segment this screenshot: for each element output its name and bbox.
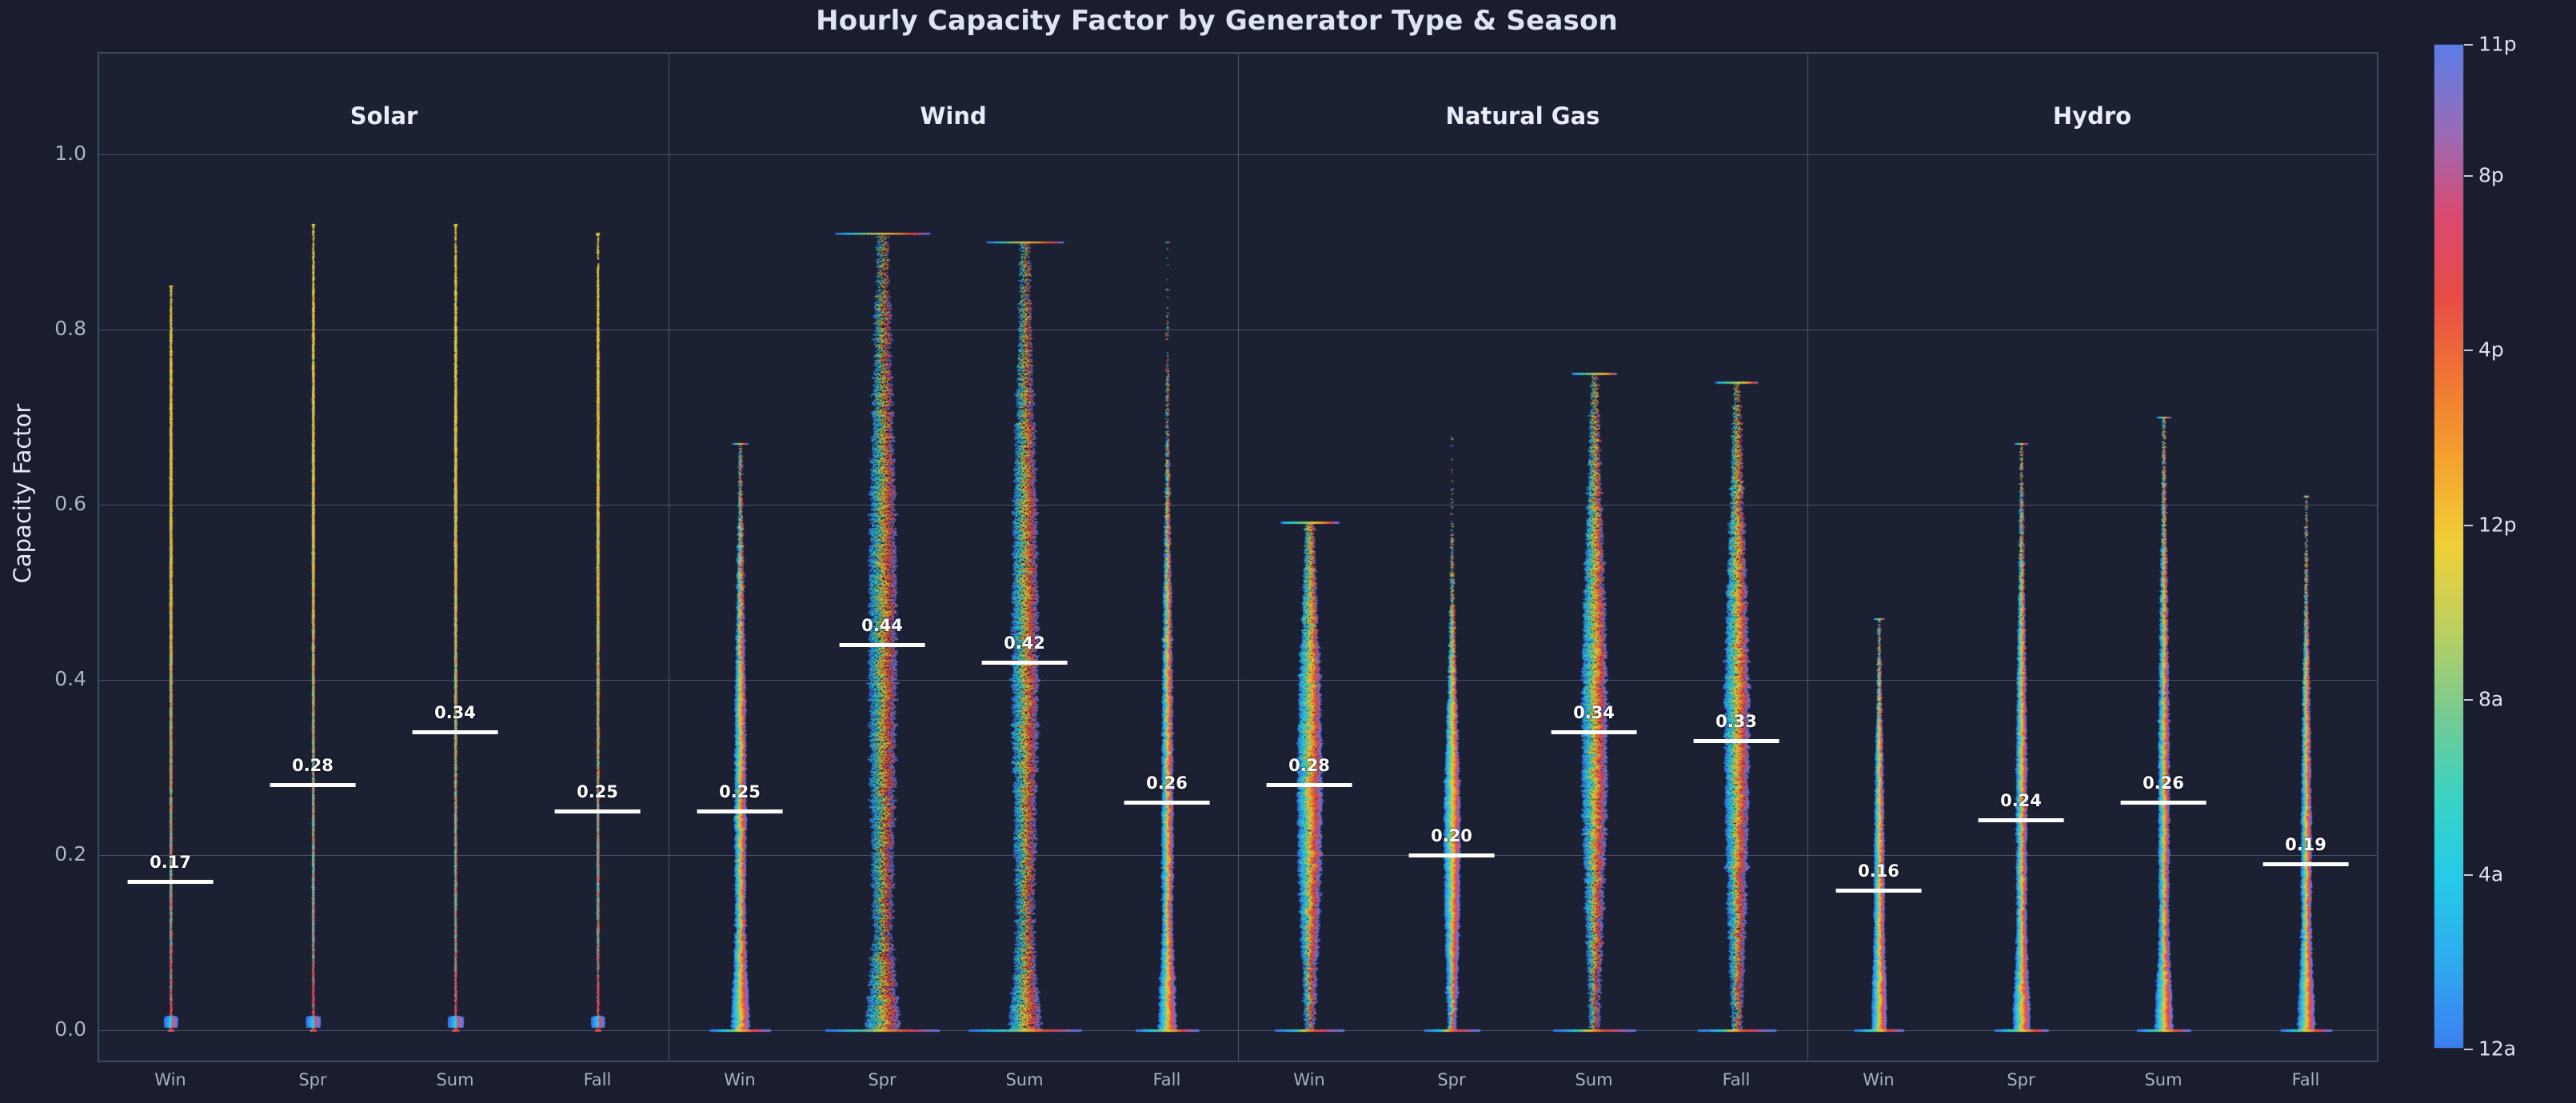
median-value-label: 0.25 <box>719 782 761 801</box>
median-line <box>128 880 214 884</box>
chart-root: Hourly Capacity Factor by Generator Type… <box>0 0 2576 1103</box>
colorbar-tick-11p <box>2464 44 2473 46</box>
median-value-label: 0.28 <box>292 756 333 775</box>
median-line <box>1552 730 1637 734</box>
median-line <box>413 730 498 734</box>
median-line <box>2263 862 2349 866</box>
median-line <box>1267 783 1352 787</box>
panel-title-wind: Wind <box>920 102 986 130</box>
x-tick-label-hydro-fall: Fall <box>2292 1070 2320 1089</box>
x-tick-label-solar-spr: Spr <box>298 1070 326 1089</box>
colorbar-label-11p: 11p <box>2478 33 2517 56</box>
colorbar-tick-8a <box>2464 699 2473 701</box>
x-tick-label-natural-gas-win: Win <box>1293 1070 1324 1089</box>
panel-title-natural-gas: Natural Gas <box>1446 102 1600 130</box>
x-tick-label-solar-win: Win <box>154 1070 186 1089</box>
x-tick-label-natural-gas-sum: Sum <box>1575 1070 1612 1089</box>
median-value-label: 0.34 <box>1573 703 1615 722</box>
y-tick-label-1.0: 1.0 <box>0 142 86 165</box>
x-tick-label-hydro-spr: Spr <box>2007 1070 2035 1089</box>
median-value-label: 0.28 <box>1288 756 1330 775</box>
median-line <box>697 809 783 813</box>
median-line <box>270 783 356 787</box>
median-value-label: 0.26 <box>1146 773 1188 793</box>
median-value-label: 0.16 <box>1858 861 1899 881</box>
colorbar[interactable]: 12a4a8a12p4p8p11p <box>2434 44 2464 1049</box>
x-tick-label-wind-spr: Spr <box>868 1070 896 1089</box>
colorbar-label-8a: 8a <box>2478 688 2503 711</box>
colorbar-tick-12a <box>2464 1049 2473 1050</box>
panel-title-solar: Solar <box>350 102 418 130</box>
median-value-label: 0.33 <box>1715 712 1757 731</box>
median-line <box>840 643 925 647</box>
colorbar-label-8p: 8p <box>2478 163 2504 186</box>
median-value-label: 0.44 <box>861 616 903 635</box>
colorbar-gradient <box>2434 44 2464 1049</box>
x-tick-label-hydro-win: Win <box>1863 1070 1894 1089</box>
x-tick-label-solar-sum: Sum <box>436 1070 473 1089</box>
median-line <box>1979 818 2064 822</box>
x-tick-label-wind-sum: Sum <box>1005 1070 1043 1089</box>
y-tick-label-0.0: 0.0 <box>0 1017 86 1041</box>
colorbar-tick-8p <box>2464 175 2473 177</box>
colorbar-tick-12p <box>2464 525 2473 526</box>
colorbar-label-4p: 4p <box>2478 338 2504 362</box>
x-tick-label-hydro-sum: Sum <box>2144 1070 2182 1089</box>
median-line <box>2121 801 2207 805</box>
colorbar-tick-4p <box>2464 350 2473 351</box>
colorbar-label-4a: 4a <box>2478 862 2503 885</box>
median-value-label: 0.20 <box>1431 826 1472 845</box>
y-axis-label: Capacity Factor <box>9 294 36 693</box>
median-line <box>1694 739 1779 743</box>
median-value-label: 0.34 <box>434 703 476 722</box>
panel-title-hydro: Hydro <box>2053 102 2131 130</box>
median-value-label: 0.19 <box>2285 835 2326 854</box>
median-line <box>1836 889 1922 893</box>
median-line <box>982 661 1068 665</box>
colorbar-tick-4a <box>2464 874 2473 876</box>
median-line <box>1409 853 1495 857</box>
median-line <box>1124 801 1210 805</box>
x-tick-label-wind-win: Win <box>724 1070 755 1089</box>
page-title: Hourly Capacity Factor by Generator Type… <box>0 5 2434 37</box>
x-tick-label-natural-gas-fall: Fall <box>1723 1070 1751 1089</box>
plot-area: 0.170.280.340.250.250.440.420.260.280.20… <box>98 52 2378 1062</box>
y-tick-label-0.2: 0.2 <box>0 842 86 865</box>
median-value-label: 0.25 <box>577 782 618 801</box>
median-line <box>555 809 641 813</box>
median-value-label: 0.26 <box>2143 773 2184 793</box>
x-tick-label-natural-gas-spr: Spr <box>1437 1070 1465 1089</box>
x-tick-label-wind-fall: Fall <box>1153 1070 1181 1089</box>
x-tick-label-solar-fall: Fall <box>584 1070 612 1089</box>
median-value-label: 0.42 <box>1004 633 1045 653</box>
beeswarm-canvas <box>99 54 2377 1061</box>
median-value-label: 0.24 <box>2000 791 2042 810</box>
colorbar-label-12p: 12p <box>2478 513 2517 536</box>
median-value-label: 0.17 <box>150 853 191 872</box>
colorbar-label-12a: 12a <box>2478 1037 2516 1061</box>
